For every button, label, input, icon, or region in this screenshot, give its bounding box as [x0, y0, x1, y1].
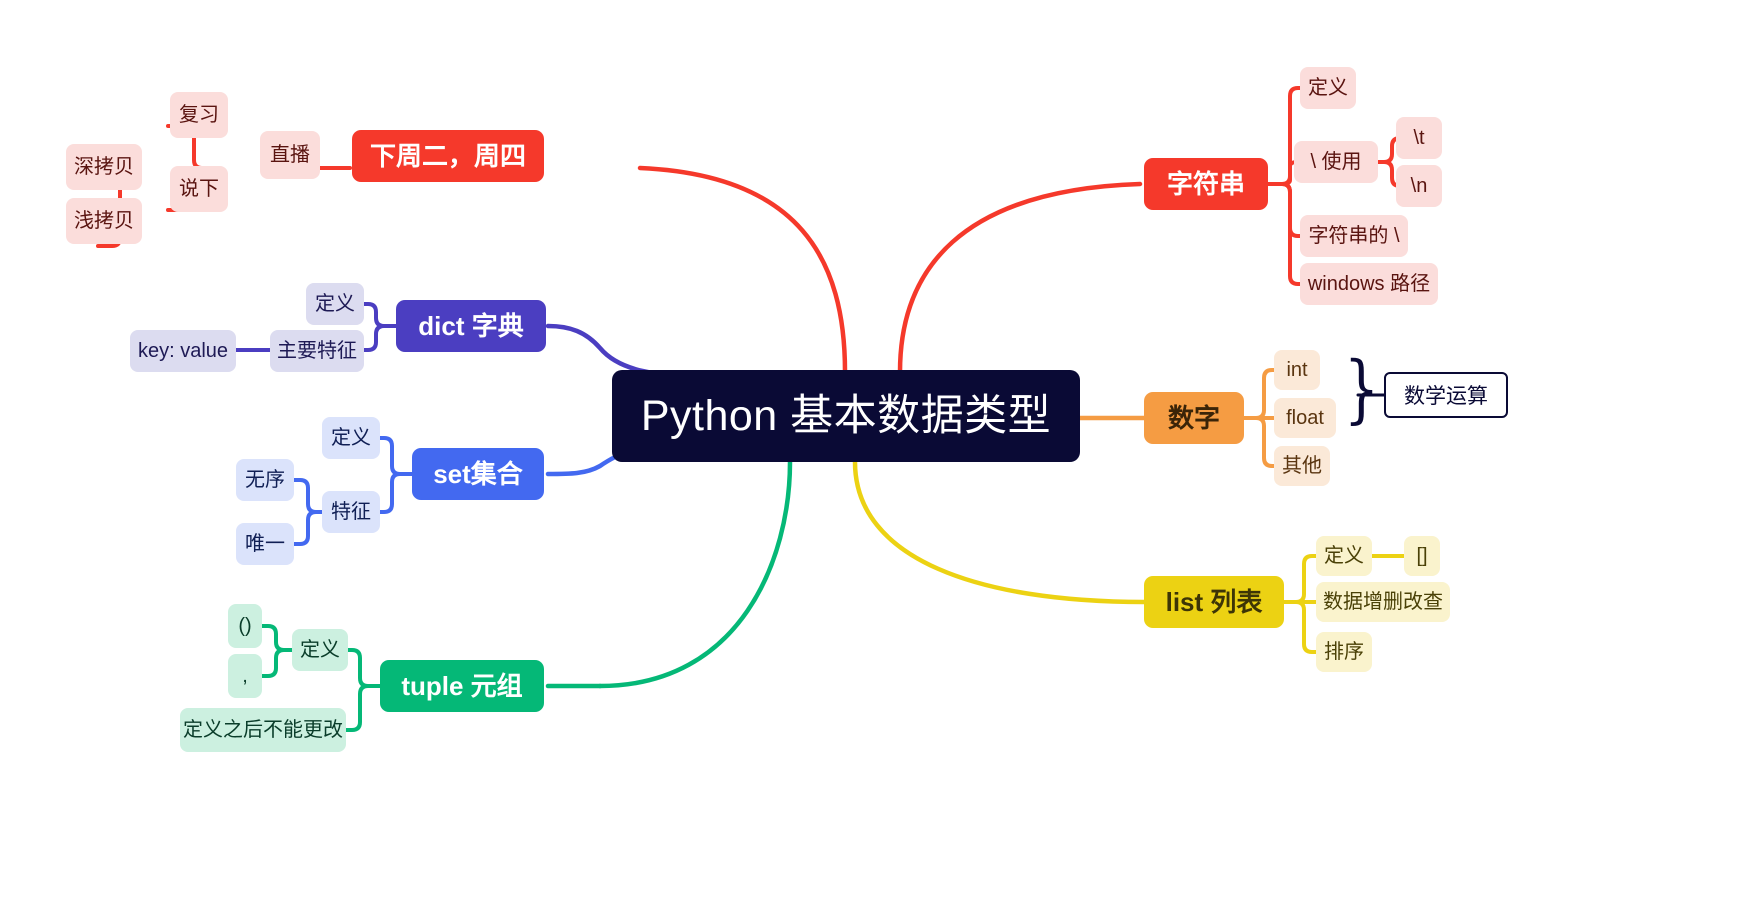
branch-dict-root-label: dict 字典: [418, 313, 523, 339]
node-set-unordered[interactable]: 无序: [236, 459, 294, 501]
branch-tuple-root[interactable]: tuple 元组: [380, 660, 544, 712]
branch-live-root-label: 下周二，周四: [370, 143, 526, 169]
node-string-newline-escape[interactable]: \n: [1396, 165, 1442, 207]
branch-string-root-label: 字符串: [1167, 171, 1245, 197]
node-dict-keyvalue-label: key: value: [138, 341, 228, 361]
node-dict-definition-label: 定义: [315, 294, 355, 314]
branch-number-root-label: 数字: [1168, 405, 1220, 431]
branch-string-root[interactable]: 字符串: [1144, 158, 1268, 210]
node-number-float[interactable]: float: [1274, 398, 1336, 438]
node-dict-definition[interactable]: 定义: [306, 283, 364, 325]
node-number-other-label: 其他: [1282, 456, 1322, 476]
node-number-math-operations-label: 数学运算: [1404, 380, 1488, 410]
number-group-brace: }: [1344, 352, 1379, 426]
node-tuple-immutable-label: 定义之后不能更改: [183, 720, 343, 740]
node-live-shuoxia-label: 说下: [179, 179, 219, 199]
node-set-features[interactable]: 特征: [322, 491, 380, 533]
node-list-sort-label: 排序: [1324, 642, 1364, 662]
node-tuple-comma-label: ,: [242, 666, 248, 686]
node-string-backslash-usage-label: \ 使用: [1310, 152, 1361, 172]
node-tuple-parens[interactable]: (): [228, 604, 262, 648]
node-number-float-label: float: [1286, 408, 1324, 428]
branch-dict-root[interactable]: dict 字典: [396, 300, 546, 352]
branch-list-root[interactable]: list 列表: [1144, 576, 1284, 628]
node-set-unordered-label: 无序: [245, 470, 285, 490]
node-number-other[interactable]: 其他: [1274, 446, 1330, 486]
node-set-unique-label: 唯一: [245, 534, 285, 554]
node-string-backslash-in-string-label: 字符串的 \: [1308, 226, 1399, 246]
node-tuple-immutable[interactable]: 定义之后不能更改: [180, 708, 346, 752]
node-list-definition-label: 定义: [1324, 546, 1364, 566]
node-set-definition[interactable]: 定义: [322, 417, 380, 459]
branch-live-root[interactable]: 下周二，周四: [352, 130, 544, 182]
central-node-label: Python 基本数据类型: [641, 395, 1051, 438]
branch-number-root[interactable]: 数字: [1144, 392, 1244, 444]
node-dict-features-label: 主要特征: [277, 341, 357, 361]
node-string-tab-escape[interactable]: \t: [1396, 117, 1442, 159]
node-tuple-comma[interactable]: ,: [228, 654, 262, 698]
node-live-zhibo[interactable]: 直播: [260, 131, 320, 179]
node-tuple-definition-label: 定义: [300, 640, 340, 660]
node-live-shallowcopy[interactable]: 浅拷贝: [66, 198, 142, 244]
node-set-features-label: 特征: [331, 502, 371, 522]
branch-tuple-root-label: tuple 元组: [401, 673, 522, 699]
node-live-deepcopy-label: 深拷贝: [74, 157, 134, 177]
node-dict-keyvalue[interactable]: key: value: [130, 330, 236, 372]
branch-set-root-label: set集合: [433, 461, 523, 487]
node-list-crud[interactable]: 数据增删改查: [1316, 582, 1450, 622]
node-tuple-definition[interactable]: 定义: [292, 629, 348, 671]
branch-set-root[interactable]: set集合: [412, 448, 544, 500]
node-list-crud-label: 数据增删改查: [1323, 592, 1443, 612]
node-set-definition-label: 定义: [331, 428, 371, 448]
node-live-zhibo-label: 直播: [270, 145, 310, 165]
node-list-definition[interactable]: 定义: [1316, 536, 1372, 576]
node-dict-features[interactable]: 主要特征: [270, 330, 364, 372]
node-string-tab-escape-label: \t: [1413, 128, 1424, 148]
node-tuple-parens-label: (): [238, 616, 251, 636]
node-string-windows-path[interactable]: windows 路径: [1300, 263, 1438, 305]
node-live-shuoxia[interactable]: 说下: [170, 166, 228, 212]
branch-list-root-label: list 列表: [1166, 589, 1263, 615]
node-set-unique[interactable]: 唯一: [236, 523, 294, 565]
node-live-deepcopy[interactable]: 深拷贝: [66, 144, 142, 190]
central-node[interactable]: Python 基本数据类型: [612, 370, 1080, 462]
node-string-backslash-usage[interactable]: \ 使用: [1294, 141, 1378, 183]
node-number-math-operations[interactable]: 数学运算: [1384, 372, 1508, 418]
node-live-fuxi-label: 复习: [179, 105, 219, 125]
node-number-int[interactable]: int: [1274, 350, 1320, 390]
node-list-brackets[interactable]: []: [1404, 536, 1440, 576]
node-list-sort[interactable]: 排序: [1316, 632, 1372, 672]
node-string-backslash-in-string[interactable]: 字符串的 \: [1300, 215, 1408, 257]
mindmap-canvas: Python 基本数据类型 下周二，周四 直播 复习 说下 深拷贝 浅拷贝 di…: [0, 0, 1753, 906]
node-live-fuxi[interactable]: 复习: [170, 92, 228, 138]
node-string-newline-escape-label: \n: [1411, 176, 1428, 196]
node-string-definition[interactable]: 定义: [1300, 67, 1356, 109]
node-string-definition-label: 定义: [1308, 78, 1348, 98]
node-live-shallowcopy-label: 浅拷贝: [74, 211, 134, 231]
node-string-windows-path-label: windows 路径: [1308, 274, 1430, 294]
node-list-brackets-label: []: [1416, 546, 1427, 566]
node-number-int-label: int: [1286, 360, 1307, 380]
